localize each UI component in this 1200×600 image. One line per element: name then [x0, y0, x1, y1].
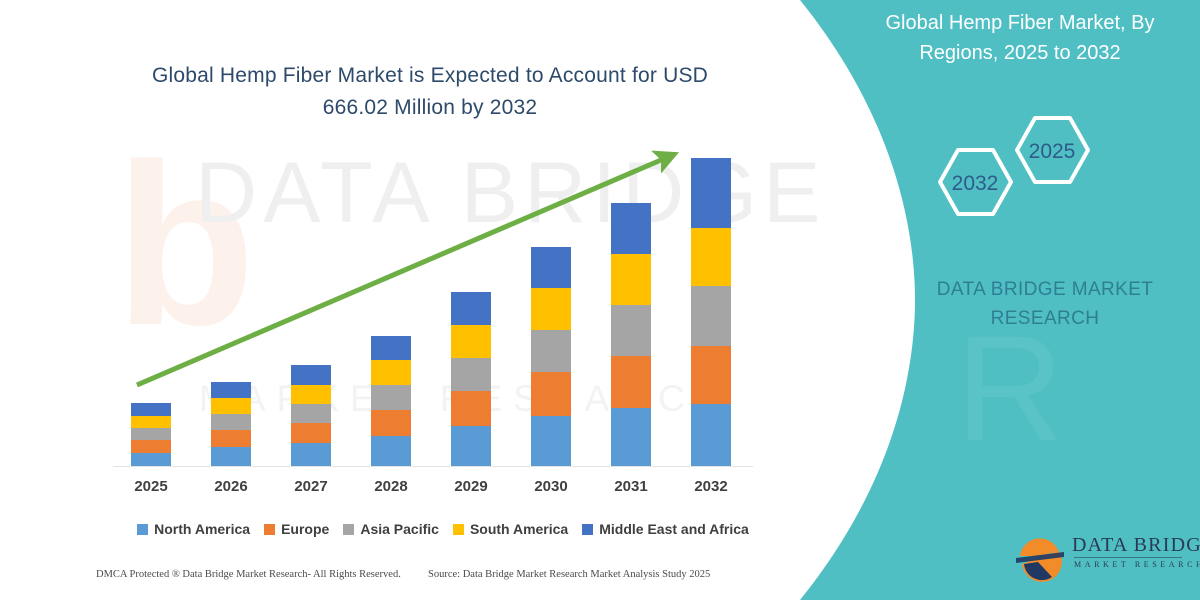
bar-segment [531, 247, 571, 288]
footer-source-text: Source: Data Bridge Market Research Mark… [428, 569, 710, 580]
logo-mark-icon [1012, 530, 1068, 586]
x-axis-labels: 20252026202720282029203020312032 [113, 478, 753, 502]
bar-segment [611, 203, 651, 254]
hexagon-label-2025: 2025 [1017, 140, 1087, 164]
bar-segment [371, 336, 411, 360]
legend-swatch-icon [582, 524, 593, 535]
legend-item-middle-east-and-africa[interactable]: Middle East and Africa [582, 521, 749, 537]
bar-segment [131, 453, 171, 466]
bar-segment [451, 292, 491, 325]
legend-label: Middle East and Africa [599, 521, 749, 537]
logo-name: DATA BRIDGE [1072, 534, 1200, 557]
bar-segment [611, 356, 651, 408]
legend-label: South America [470, 521, 568, 537]
logo-divider [1074, 557, 1182, 558]
hexagon-badges: 2025 2032 [920, 110, 1120, 230]
x-axis-label-2030: 2030 [521, 478, 581, 495]
bar-segment [371, 360, 411, 385]
x-axis-label-2027: 2027 [281, 478, 341, 495]
bar-segment [691, 228, 731, 286]
legend-item-asia-pacific[interactable]: Asia Pacific [343, 521, 439, 537]
legend-swatch-icon [137, 524, 148, 535]
bar-segment [611, 254, 651, 305]
chart-legend: North AmericaEuropeAsia PacificSouth Ame… [113, 518, 773, 540]
bar-segment [451, 325, 491, 358]
bar-segment [451, 358, 491, 391]
bar-2026[interactable] [211, 382, 251, 466]
legend-item-europe[interactable]: Europe [264, 521, 329, 537]
x-axis-label-2025: 2025 [121, 478, 181, 495]
bar-segment [371, 410, 411, 436]
bar-2025[interactable] [131, 403, 171, 466]
bar-segment [211, 382, 251, 398]
bar-segment [531, 330, 571, 372]
bar-2029[interactable] [451, 292, 491, 466]
bar-2030[interactable] [531, 247, 571, 466]
legend-label: Asia Pacific [360, 521, 439, 537]
hexagon-label-2032: 2032 [940, 172, 1010, 196]
bar-segment [371, 385, 411, 410]
x-axis-label-2032: 2032 [681, 478, 741, 495]
bar-segment [211, 398, 251, 414]
bar-2032[interactable] [691, 158, 731, 466]
bar-segment [531, 416, 571, 466]
x-axis-label-2026: 2026 [201, 478, 261, 495]
bar-segment [611, 408, 651, 466]
x-axis-line [113, 466, 753, 467]
footer: DMCA Protected ® Data Bridge Market Rese… [0, 566, 800, 596]
bar-2031[interactable] [611, 203, 651, 466]
bar-segment [691, 404, 731, 466]
bar-segment [451, 426, 491, 466]
bar-segment [291, 404, 331, 423]
bar-segment [131, 403, 171, 416]
bar-segment [131, 416, 171, 428]
chart-plot-area: 20252026202720282029203020312032 [0, 0, 800, 600]
data-bridge-logo: DATA BRIDGE MARKET RESEARCH [1012, 530, 1192, 586]
bar-segment [691, 158, 731, 228]
legend-label: North America [154, 521, 250, 537]
bar-segment [131, 428, 171, 440]
bar-segment [531, 372, 571, 416]
bar-segment [691, 286, 731, 346]
bar-2028[interactable] [371, 336, 411, 466]
bar-segment [451, 391, 491, 426]
x-axis-label-2028: 2028 [361, 478, 421, 495]
infographic-root: R b DATA BRIDGE MARKET RESEARCH Global H… [0, 0, 1200, 600]
x-axis-label-2029: 2029 [441, 478, 501, 495]
legend-swatch-icon [343, 524, 354, 535]
legend-swatch-icon [453, 524, 464, 535]
panel-brand-text: DATA BRIDGE MARKET RESEARCH [900, 275, 1190, 333]
legend-label: Europe [281, 521, 329, 537]
bar-2027[interactable] [291, 365, 331, 466]
panel-title: Global Hemp Fiber Market, By Regions, 20… [855, 8, 1185, 68]
legend-item-north-america[interactable]: North America [137, 521, 250, 537]
bar-segment [291, 423, 331, 443]
x-axis-label-2031: 2031 [601, 478, 661, 495]
legend-item-south-america[interactable]: South America [453, 521, 568, 537]
bar-segment [531, 288, 571, 330]
bar-segment [291, 385, 331, 404]
bar-segment [211, 430, 251, 447]
bar-segment [211, 447, 251, 466]
logo-subtitle: MARKET RESEARCH [1074, 560, 1200, 569]
bar-segment [211, 414, 251, 430]
bar-segment [131, 440, 171, 453]
footer-dmca-text: DMCA Protected ® Data Bridge Market Rese… [96, 569, 401, 580]
legend-swatch-icon [264, 524, 275, 535]
bar-segment [691, 346, 731, 404]
bar-segment [291, 365, 331, 385]
bar-segment [611, 305, 651, 356]
bar-segment [371, 436, 411, 466]
bar-segment [291, 443, 331, 466]
